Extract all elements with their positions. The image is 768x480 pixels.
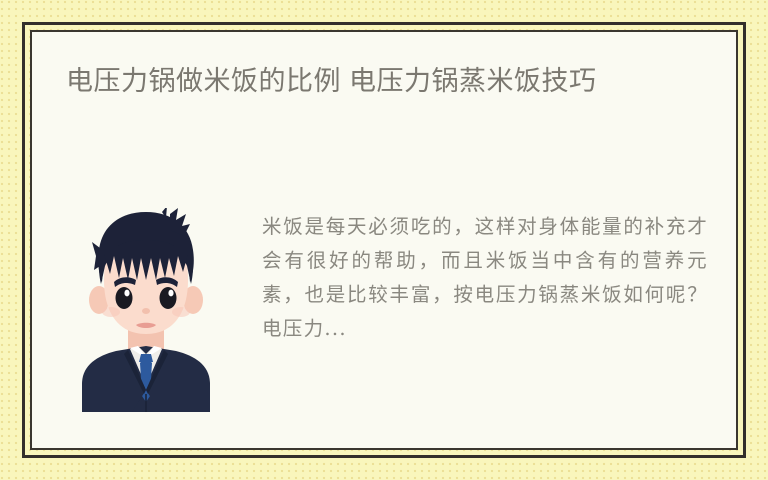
card-outer-border: 电压力锅做米饭的比例 电压力锅蒸米饭技巧 (22, 22, 746, 458)
avatar (66, 208, 226, 412)
article-excerpt: 米饭是每天必须吃的，这样对身体能量的补充才会有很好的帮助，而且米饭当中含有的营养… (262, 210, 708, 346)
card-inner-border: 电压力锅做米饭的比例 电压力锅蒸米饭技巧 (30, 30, 738, 450)
avatar-illustration-icon (66, 208, 226, 412)
card-content: 电压力锅做米饭的比例 电压力锅蒸米饭技巧 (32, 32, 736, 448)
article-body: 米饭是每天必须吃的，这样对身体能量的补充才会有很好的帮助，而且米饭当中含有的营养… (66, 208, 708, 412)
page-title: 电压力锅做米饭的比例 电压力锅蒸米饭技巧 (66, 62, 626, 100)
article-card: 电压力锅做米饭的比例 电压力锅蒸米饭技巧 (0, 0, 768, 480)
